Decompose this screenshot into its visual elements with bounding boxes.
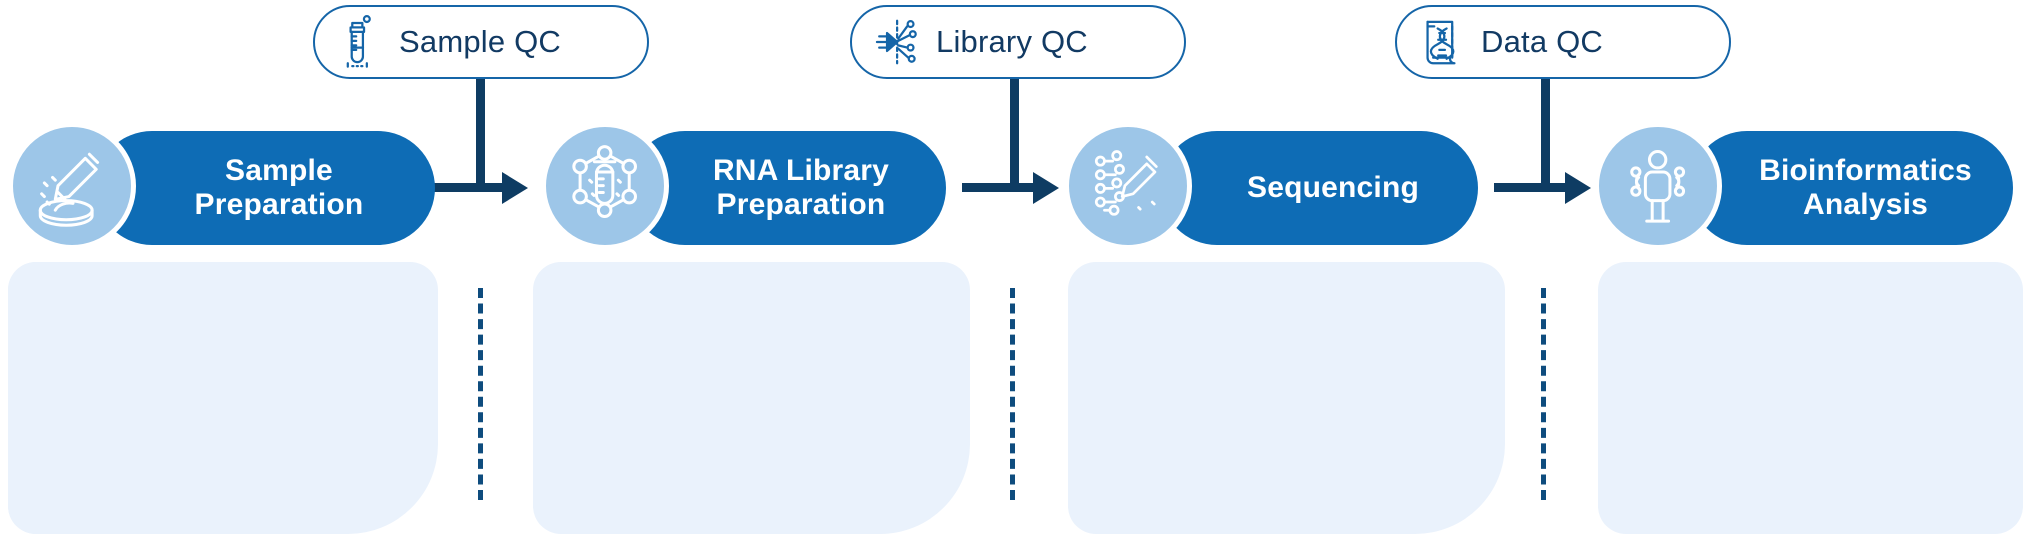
molecule-tube-icon [561, 142, 648, 229]
arrow-library-to-sequencing [962, 172, 1062, 204]
dna-scroll-icon [1415, 14, 1467, 70]
pipette-dish-icon [28, 142, 115, 229]
content-panel-sample-preparation-ext [8, 262, 438, 534]
content-panel-rna-library-preparation [533, 262, 970, 534]
divider-1 [478, 288, 483, 500]
stage-icon-circle-sample-preparation [8, 122, 136, 250]
library-funnel-icon [870, 14, 922, 70]
connector-line-sample-qc [476, 70, 485, 185]
stage-icon-circle-rna-library-preparation [541, 122, 669, 250]
stage-title-sequencing: Sequencing [1203, 171, 1435, 205]
test-tube-icon [333, 14, 385, 70]
connector-line-library-qc [1010, 70, 1019, 185]
stage-title-bioinformatics-analysis: Bioinformatics Analysis [1715, 154, 1988, 222]
qc-pill-label: Data QC [1473, 24, 1603, 60]
stage-title-sample-preparation: Sample Preparation [151, 154, 380, 222]
qc-pill-label: Sample QC [391, 24, 561, 60]
sequencing-pipette-icon [1084, 142, 1171, 229]
content-panel-bioinformatics-analysis [1598, 262, 2023, 534]
content-panel-sequencing [1068, 262, 1505, 534]
arrow-sample-to-library [433, 172, 528, 204]
stage-title-line2: Preparation [195, 188, 364, 222]
divider-2 [1010, 288, 1015, 500]
arrow-sequencing-to-bioinformatics [1494, 172, 1594, 204]
stage-title-line2: Preparation [713, 188, 889, 222]
stage-title-line2: Analysis [1759, 188, 1972, 222]
qc-pill-library-qc[interactable]: Library QC [850, 5, 1186, 79]
bioinformatics-person-icon [1614, 142, 1701, 229]
divider-3 [1541, 288, 1546, 500]
stage-title-line1: Sequencing [1247, 171, 1419, 205]
qc-pill-sample-qc[interactable]: Sample QC [313, 5, 649, 79]
stage-title-line1: RNA Library [713, 154, 889, 188]
stage-title-line1: Bioinformatics [1759, 154, 1972, 188]
stage-bar-sequencing[interactable]: Sequencing [1160, 131, 1478, 245]
stage-title-rna-library-preparation: RNA Library Preparation [669, 154, 905, 222]
qc-pill-label: Library QC [928, 24, 1088, 60]
qc-pill-data-qc[interactable]: Data QC [1395, 5, 1731, 79]
stage-bar-sample-preparation[interactable]: Sample Preparation [95, 131, 435, 245]
stage-title-line1: Sample [195, 154, 364, 188]
stage-icon-circle-sequencing [1064, 122, 1192, 250]
stage-bar-bioinformatics-analysis[interactable]: Bioinformatics Analysis [1690, 131, 2013, 245]
connector-line-data-qc [1541, 70, 1550, 185]
stage-icon-circle-bioinformatics-analysis [1594, 122, 1722, 250]
stage-bar-rna-library-preparation[interactable]: RNA Library Preparation [628, 131, 946, 245]
